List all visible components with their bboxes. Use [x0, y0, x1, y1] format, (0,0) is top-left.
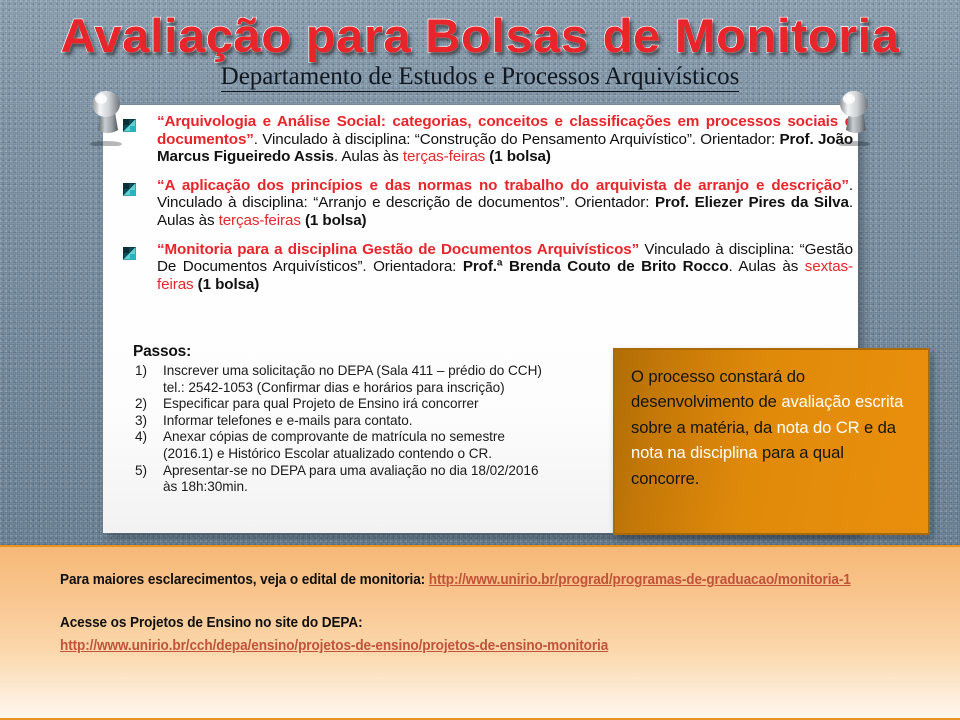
step-item: 3)Informar telefones e e-mails para cont…: [133, 413, 613, 430]
project-text-run: “Monitoria para a disciplina Gestão de D…: [157, 241, 639, 258]
project-text-run: (1 bolsa): [305, 212, 367, 229]
project-item: “A aplicação dos princípios e das normas…: [109, 177, 853, 230]
project-text-run: “A aplicação dos princípios e das normas…: [157, 177, 849, 194]
project-text-run: Prof. Eliezer Pires da Silva: [655, 194, 849, 211]
footer-block-2-link-line: http://www.unirio.br/cch/depa/ensino/pro…: [60, 635, 860, 658]
project-item: “Monitoria para a disciplina Gestão de D…: [109, 241, 853, 294]
steps-title: Passos:: [133, 343, 613, 361]
callout-text-run: avaliação escrita: [781, 392, 903, 411]
project-text-run: . Vinculado à disciplina: “Construção do…: [254, 131, 780, 148]
projects-list: “Arquivologia e Análise Social: categori…: [109, 113, 853, 304]
footer-block-2: Acesse os Projetos de Ensino no site do …: [60, 612, 860, 635]
step-line: (2016.1) e Histórico Escolar atualizado …: [163, 446, 613, 463]
callout-text: O processo constará do desenvolvimento d…: [631, 364, 912, 491]
pushpin-icon: [80, 84, 132, 146]
pushpin-icon: [828, 84, 880, 146]
step-item: 4)Anexar cópias de comprovante de matríc…: [133, 429, 613, 462]
step-number: 2): [135, 396, 157, 413]
project-description: “A aplicação dos princípios e das normas…: [157, 177, 853, 230]
steps-list: 1)Inscrever uma solicitação no DEPA (Sal…: [133, 363, 613, 496]
footer-separator-1: :: [421, 572, 429, 588]
step-item: 2)Especificar para qual Projeto de Ensin…: [133, 396, 613, 413]
step-line: Apresentar-se no DEPA para uma avaliação…: [163, 463, 613, 480]
project-text-run: . Aulas às: [334, 148, 403, 165]
step-line: às 18h:30min.: [163, 479, 613, 496]
callout-text-run: sobre a matéria, da: [631, 418, 777, 437]
department-subtitle-text: Departamento de Estudos e Processos Arqu…: [221, 63, 740, 92]
step-number: 1): [135, 363, 157, 380]
callout-text-run: nota na disciplina: [631, 443, 757, 462]
step-number: 3): [135, 413, 157, 430]
edital-monitoria-link[interactable]: http://www.unirio.br/prograd/programas-d…: [429, 572, 851, 588]
step-line: Anexar cópias de comprovante de matrícul…: [163, 429, 613, 446]
step-line: Informar telefones e e-mails para contat…: [163, 413, 613, 430]
checkered-square-bullet-icon: [123, 247, 136, 260]
project-text-run: . Aulas às: [729, 258, 805, 275]
callout-text-run: nota do CR: [777, 418, 860, 437]
step-item: 5)Apresentar-se no DEPA para uma avaliaç…: [133, 463, 613, 496]
footer-label-1: Para maiores esclarecimentos, veja o edi…: [60, 572, 421, 588]
projetos-ensino-link[interactable]: http://www.unirio.br/cch/depa/ensino/pro…: [60, 638, 608, 654]
project-text-run: terças-feiras: [219, 212, 301, 229]
project-description: “Monitoria para a disciplina Gestão de D…: [157, 241, 853, 294]
evaluation-callout-box: O processo constará do desenvolvimento d…: [613, 348, 930, 535]
footer-label-2: Acesse os Projetos de Ensino no site do …: [60, 615, 363, 631]
step-number: 4): [135, 429, 157, 446]
step-line: tel.: 2542-1053 (Confirmar dias e horári…: [163, 380, 613, 397]
footer-info-bar: Para maiores esclarecimentos, veja o edi…: [0, 545, 960, 720]
page-title: Avaliação para Bolsas de Monitoria: [0, 8, 960, 64]
step-line: Inscrever uma solicitação no DEPA (Sala …: [163, 363, 613, 380]
footer-spacer: [60, 592, 920, 612]
checkered-square-bullet-icon: [123, 183, 136, 196]
callout-text-run: e da: [860, 418, 896, 437]
project-item: “Arquivologia e Análise Social: categori…: [109, 113, 853, 166]
steps-section: Passos: 1)Inscrever uma solicitação no D…: [133, 343, 613, 496]
poster-header: Avaliação para Bolsas de Monitoria Depar…: [0, 0, 960, 105]
department-subtitle: Departamento de Estudos e Processos Arqu…: [0, 62, 960, 92]
project-description: “Arquivologia e Análise Social: categori…: [157, 113, 853, 166]
step-item: 1)Inscrever uma solicitação no DEPA (Sal…: [133, 363, 613, 396]
project-text-run: (1 bolsa): [198, 276, 260, 293]
callout-text-run: O processo constará do desenvolvimento d…: [631, 367, 805, 411]
project-text-run: terças-feiras: [403, 148, 485, 165]
footer-block-1: Para maiores esclarecimentos, veja o edi…: [60, 569, 860, 592]
step-number: 5): [135, 463, 157, 480]
project-text-run: (1 bolsa): [489, 148, 551, 165]
step-line: Especificar para qual Projeto de Ensino …: [163, 396, 613, 413]
project-text-run: Prof.ª Brenda Couto de Brito Rocco: [463, 258, 729, 275]
